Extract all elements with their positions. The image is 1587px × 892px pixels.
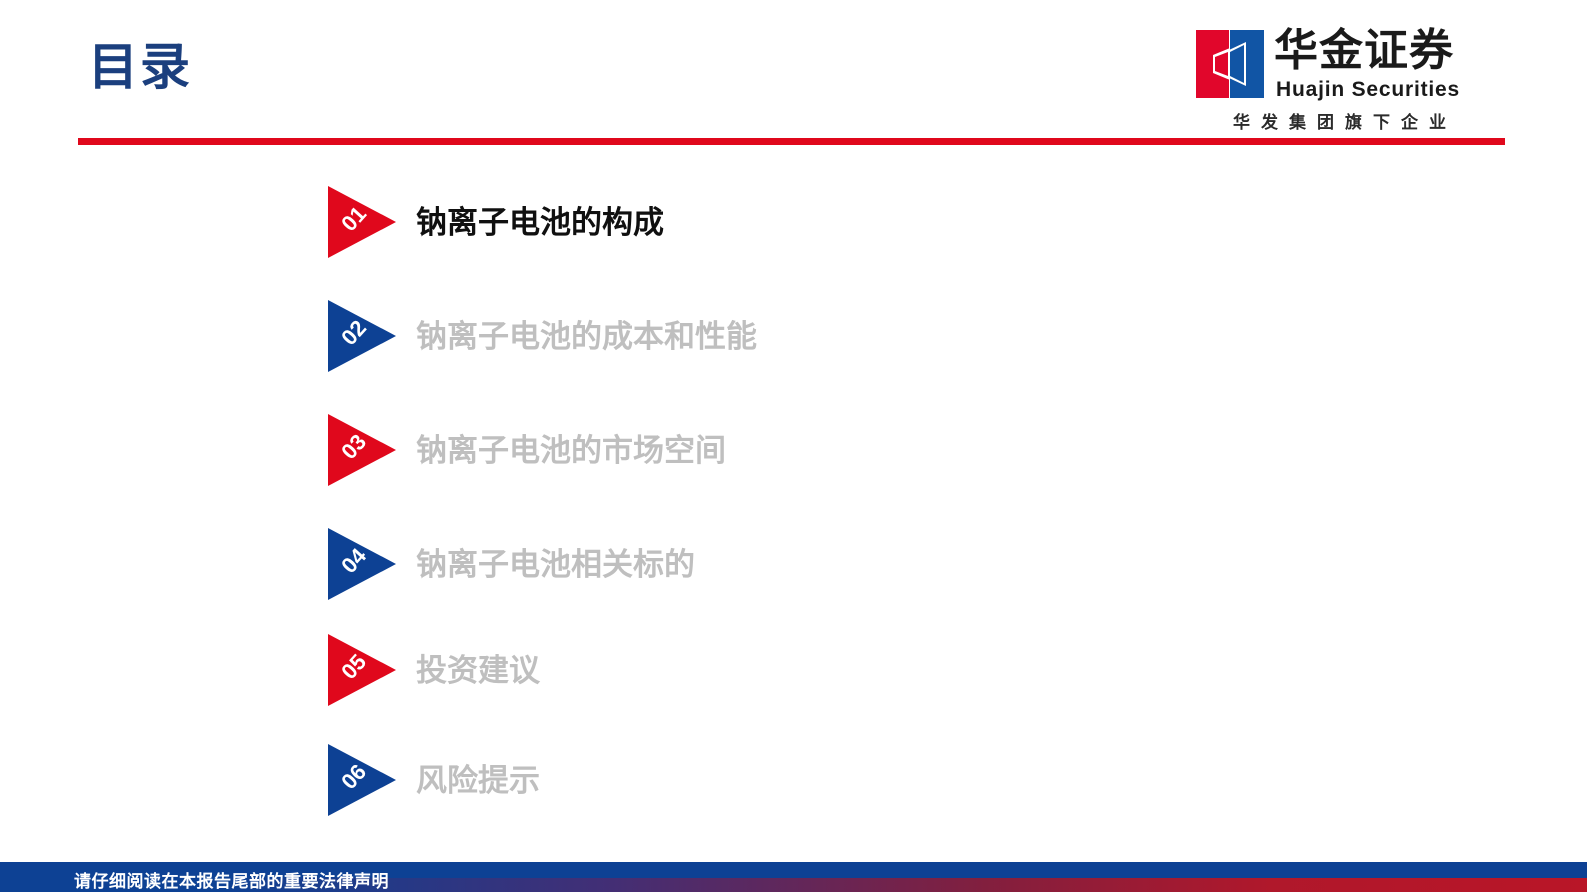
agenda-item-02[interactable]: 02 钠离子电池的成本和性能 — [328, 300, 757, 372]
agenda-item-01[interactable]: 01 钠离子电池的构成 — [328, 186, 664, 258]
logo-wordmark-english: Huajin Securities — [1276, 78, 1460, 102]
agenda-item-04[interactable]: 04 钠离子电池相关标的 — [328, 528, 695, 600]
agenda-marker-04: 04 — [328, 528, 398, 600]
agenda-marker-06: 06 — [328, 744, 398, 816]
footer-disclaimer-text: 请仔细阅读在本报告尾部的重要法律声明 — [74, 867, 389, 892]
agenda-label-03[interactable]: 钠离子电池的市场空间 — [416, 435, 726, 466]
agenda-label-01[interactable]: 钠离子电池的构成 — [416, 207, 664, 238]
brand-logo: 华金证券 Huajin Securities 华发集团旗下企业 — [1196, 28, 1486, 133]
agenda-marker-01: 01 — [328, 186, 398, 258]
agenda-marker-03: 03 — [328, 414, 398, 486]
logo-tagline: 华发集团旗下企业 — [1200, 108, 1490, 133]
huajin-logo-mark-icon — [1196, 30, 1264, 98]
agenda-item-03[interactable]: 03 钠离子电池的市场空间 — [328, 414, 726, 486]
agenda-item-05[interactable]: 05 投资建议 — [328, 634, 540, 706]
agenda-marker-05: 05 — [328, 634, 398, 706]
agenda-label-02[interactable]: 钠离子电池的成本和性能 — [416, 321, 757, 352]
agenda-label-06[interactable]: 风险提示 — [416, 765, 540, 796]
slide-canvas: 目录 华金证券 Huajin Securities 华发集团旗下企业 01 钠 — [0, 0, 1587, 892]
footer-bar: 请仔细阅读在本报告尾部的重要法律声明 — [0, 862, 1587, 892]
header-divider-rule — [78, 138, 1505, 145]
agenda-marker-02: 02 — [328, 300, 398, 372]
agenda-label-05[interactable]: 投资建议 — [416, 655, 540, 686]
agenda-item-06[interactable]: 06 风险提示 — [328, 744, 540, 816]
logo-wordmark-chinese: 华金证券 — [1274, 28, 1454, 74]
agenda-label-04[interactable]: 钠离子电池相关标的 — [416, 549, 695, 580]
page-title: 目录 — [88, 42, 192, 92]
